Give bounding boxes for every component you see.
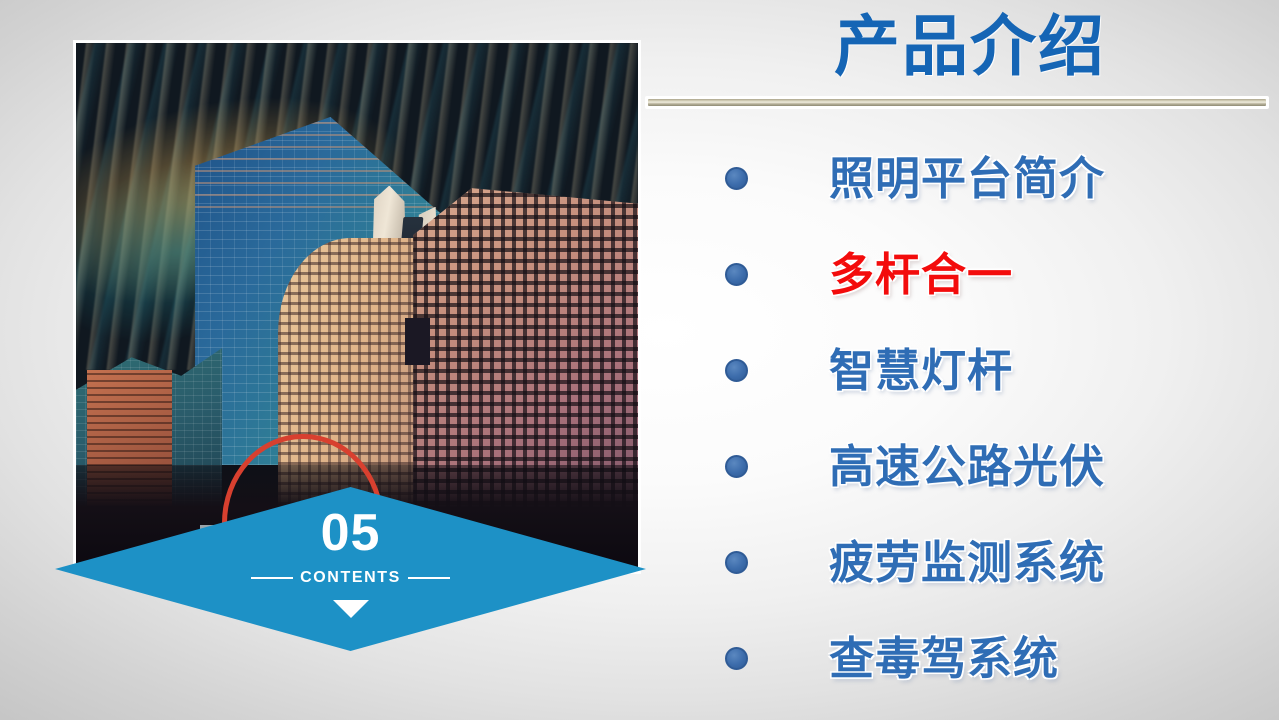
rule-left xyxy=(251,577,293,579)
bullet-dot-icon xyxy=(725,359,748,382)
contents-label: CONTENTS xyxy=(300,569,401,587)
bullet-dot-icon xyxy=(725,647,748,670)
title-divider-inner xyxy=(648,99,1266,106)
list-item-label: 疲劳监测系统 xyxy=(829,540,1105,585)
rule-right xyxy=(408,577,450,579)
list-item-label: 智慧灯杆 xyxy=(829,348,1013,393)
list-item[interactable]: 高速公路光伏 xyxy=(700,418,1260,514)
list-item[interactable]: 照明平台简介 xyxy=(700,130,1260,226)
caret-down-icon xyxy=(333,600,369,618)
agenda-list: 照明平台简介 多杆合一 智慧灯杆 高速公路光伏 疲劳监测系统 查毒驾系统 xyxy=(700,130,1260,706)
page-title: 产品介绍 xyxy=(690,8,1250,86)
list-item-label: 多杆合一 xyxy=(829,252,1013,297)
slide-root: 05 CONTENTS 产品介绍 照明平台简介 多杆合一 智慧灯杆 高速公路光伏 xyxy=(0,0,1279,720)
list-item[interactable]: 查毒驾系统 xyxy=(700,610,1260,706)
bullet-dot-icon xyxy=(725,167,748,190)
list-item[interactable]: 智慧灯杆 xyxy=(700,322,1260,418)
facade-notch xyxy=(405,318,430,366)
list-item-label: 照明平台简介 xyxy=(829,156,1105,201)
bullet-dot-icon xyxy=(725,455,748,478)
list-item-label: 高速公路光伏 xyxy=(829,444,1105,489)
list-item-label: 查毒驾系统 xyxy=(829,636,1059,681)
title-divider-bar xyxy=(645,96,1269,109)
contents-label-group: CONTENTS xyxy=(55,569,646,587)
list-item[interactable]: 多杆合一 xyxy=(700,226,1260,322)
bullet-dot-icon xyxy=(725,551,748,574)
bullet-dot-icon xyxy=(725,263,748,286)
list-item[interactable]: 疲劳监测系统 xyxy=(700,514,1260,610)
